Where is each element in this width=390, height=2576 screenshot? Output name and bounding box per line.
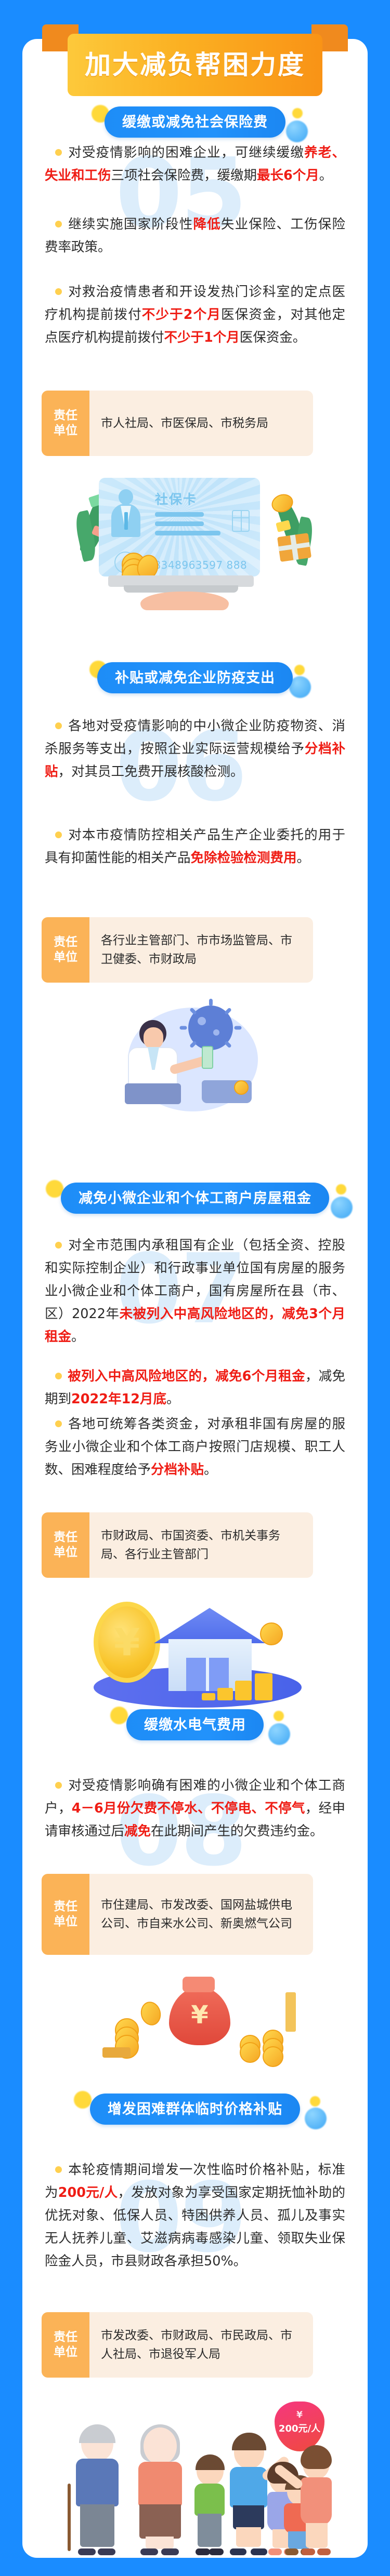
section-pill-09: 增发困难群体临时价格补贴 bbox=[90, 2094, 300, 2125]
section-pill-07: 减免小微企业和个体工商户房屋租金 bbox=[61, 1183, 329, 1214]
coin-stack bbox=[255, 1673, 272, 1700]
doctor-face bbox=[144, 1027, 163, 1049]
decor-blob-yellow bbox=[110, 1707, 128, 1724]
illustration-house-coins: ¥ bbox=[94, 1594, 302, 1714]
poster-title-ribbon: 加大减负帮困力度 bbox=[42, 24, 348, 99]
decor-blob-yellow bbox=[310, 2096, 320, 2107]
bullet-dot-icon bbox=[55, 221, 62, 227]
section-09-bullet-1: 本轮疫情期间增发一次性临时价格补贴，标准为200元/人，发放对象为享受国家定期抚… bbox=[45, 2158, 345, 2273]
house-icon bbox=[160, 1608, 259, 1691]
gift-box-icon bbox=[277, 533, 311, 562]
responsibility-box-08: 责任 单位 市住建局、市发改委、国网盐城供电公司、市自来水公司、新奥燃气公司 bbox=[42, 1874, 313, 1955]
illustration-family-subsidy: ¥ 200元/人 bbox=[57, 2399, 333, 2555]
section-07-bullet-3: 各地可统筹各类资金，对承租非国有房屋的服务业小微企业和个体工商户按照门店规模、职… bbox=[45, 1413, 345, 1481]
section-07-bullet-2: 被列入中高风险地区的，减免6个月租金，减免期到2022年12月底。 bbox=[45, 1365, 345, 1411]
bullet-dot-icon bbox=[55, 149, 62, 156]
ribbon-body: 加大减负帮困力度 bbox=[68, 34, 322, 96]
child-hair bbox=[196, 2454, 225, 2470]
walking-cane-icon bbox=[68, 2484, 71, 2551]
portrait-head bbox=[119, 489, 133, 505]
decor-blob-blue bbox=[268, 1723, 290, 1745]
person-child-pink bbox=[297, 2448, 335, 2555]
card-placeholder-bar bbox=[155, 531, 220, 535]
section-pill-05: 缓缴或减免社会保险费 bbox=[105, 106, 285, 138]
coin-base bbox=[102, 2047, 131, 2058]
section-pill-06: 补贴或减免企业防疫支出 bbox=[97, 662, 293, 693]
decor-blob-blue bbox=[331, 1197, 353, 1218]
section-05-bullet-1: 对受疫情影响的困难企业，可继续缓缴养老、失业和工伤三项社会保险费，缓缴期最长6个… bbox=[45, 141, 345, 187]
responsibility-box-05: 责任 单位 市人社局、市医保局、市税务局 bbox=[42, 391, 313, 456]
responsibility-label-line2: 单位 bbox=[54, 1545, 77, 1560]
child-hair bbox=[301, 2445, 332, 2469]
section-05-bullet-2: 继续实施国家阶段性降低失业保险、工伤保险费率政策。 bbox=[45, 213, 345, 259]
bullet-dot-icon bbox=[55, 2166, 62, 2173]
section-title-text: 减免小微企业和个体工商户房屋租金 bbox=[79, 1191, 311, 1205]
coin-stack bbox=[202, 1693, 215, 1700]
portrait-tie bbox=[124, 512, 128, 530]
section-05-bullet-3: 对救治疫情患者和开设发热门诊科室的定点医疗机构提前拨付不少于2个月医保资金，对其… bbox=[45, 280, 345, 349]
coin-stack bbox=[235, 1681, 252, 1700]
bullet-dot-icon bbox=[55, 288, 62, 295]
responsibility-box-07: 责任 单位 市财政局、市国资委、市机关事务局、各行业主管部门 bbox=[42, 1512, 313, 1578]
bullet-dot-icon bbox=[55, 1373, 62, 1379]
illustration-doctor-virus-test bbox=[78, 1002, 312, 1132]
responsibility-value: 各行业主管部门、市市场监管局、市卫健委、市财政局 bbox=[89, 917, 313, 983]
bullet-dot-icon bbox=[55, 722, 62, 729]
decor-blob-yellow bbox=[74, 2091, 92, 2109]
responsibility-label: 责任 单位 bbox=[42, 917, 89, 983]
virus-icon bbox=[188, 1005, 233, 1050]
coin-icon bbox=[240, 2042, 261, 2063]
section-title-text: 缓缴或减免社会保险费 bbox=[122, 115, 268, 129]
decor-blob-blue bbox=[286, 120, 308, 142]
coin-icon bbox=[234, 1080, 249, 1095]
page-title: 加大减负帮困力度 bbox=[85, 52, 305, 78]
card-portrait-icon bbox=[111, 489, 140, 537]
responsibility-label-line2: 单位 bbox=[54, 1914, 77, 1929]
responsibility-label-line1: 责任 bbox=[54, 2330, 77, 2345]
hand-icon bbox=[140, 592, 229, 610]
yen-symbol: ¥ bbox=[169, 2001, 230, 2030]
card-placeholder-bar bbox=[155, 521, 204, 526]
responsibility-label-line2: 单位 bbox=[54, 2345, 77, 2360]
person-grandmother bbox=[130, 2425, 189, 2555]
section-heading-08: 缓缴水电气费用 bbox=[0, 1705, 390, 1745]
responsibility-label-line2: 单位 bbox=[54, 423, 77, 438]
responsibility-label: 责任 单位 bbox=[42, 1512, 89, 1578]
yen-symbol: ¥ bbox=[275, 2410, 324, 2420]
subsidy-amount-label: 200元/人 bbox=[275, 2421, 324, 2435]
money-pouch-icon: ¥ 200元/人 bbox=[275, 2401, 324, 2451]
house-door bbox=[186, 1658, 229, 1691]
responsibility-value: 市人社局、市医保局、市税务局 bbox=[89, 391, 313, 456]
card-placeholder-bar bbox=[155, 512, 204, 517]
section-heading-09: 增发困难群体临时价格补贴 bbox=[0, 2089, 390, 2129]
large-coin-icon: ¥ bbox=[94, 1602, 160, 1683]
responsibility-box-06: 责任 单位 各行业主管部门、市市场监管局、市卫健委、市财政局 bbox=[42, 917, 313, 983]
lab-bench bbox=[125, 1083, 181, 1104]
decor-blob-yellow bbox=[292, 108, 303, 118]
person-grandfather bbox=[69, 2425, 125, 2555]
money-bag-neck bbox=[183, 1977, 215, 1992]
responsibility-value: 市发改委、市财政局、市民政局、市人社局、市退役军人局 bbox=[89, 2312, 313, 2378]
responsibility-value: 市财政局、市国资委、市机关事务局、各行业主管部门 bbox=[89, 1512, 313, 1578]
responsibility-label-line2: 单位 bbox=[54, 950, 77, 965]
section-heading-07: 减免小微企业和个体工商户房屋租金 bbox=[0, 1178, 390, 1218]
grandfather-hair bbox=[79, 2424, 115, 2443]
responsibility-label: 责任 单位 bbox=[42, 2312, 89, 2378]
responsibility-label-line1: 责任 bbox=[54, 408, 77, 423]
bullet-dot-icon bbox=[55, 1420, 62, 1427]
decor-blob-yellow bbox=[274, 1711, 284, 1721]
coin-stack bbox=[217, 1688, 233, 1700]
decor-blob-yellow bbox=[336, 1184, 346, 1195]
house-roof bbox=[154, 1608, 265, 1643]
section-06-bullet-2: 对本市疫情防控相关产品生产企业委托的用于具有抑菌性能的相关产品免除检验检测费用。 bbox=[45, 824, 345, 869]
illustration-social-security-card: 社保卡 628348963597 888 bbox=[78, 474, 312, 609]
bullet-dot-icon bbox=[55, 1242, 62, 1249]
responsibility-box-09: 责任 单位 市发改委、市财政局、市民政局、市人社局、市退役军人局 bbox=[42, 2312, 313, 2378]
responsibility-label-line1: 责任 bbox=[54, 935, 77, 950]
section-title-text: 缓缴水电气费用 bbox=[144, 1718, 246, 1732]
illustration-money-bag-coins: ¥ bbox=[91, 1968, 299, 2083]
section-title-text: 增发困难群体临时价格补贴 bbox=[108, 2102, 282, 2116]
section-06-bullet-1: 各地对受疫情影响的中小微企业防疫物资、消杀服务等支出，按照企业实际运营规模给予分… bbox=[45, 715, 345, 783]
responsibility-label-line1: 责任 bbox=[54, 1899, 77, 1914]
section-07-bullet-1: 对全市范围内承租国有企业（包括全资、控股和实际控制企业）和行政事业单位国有房屋的… bbox=[45, 1234, 345, 1348]
yen-symbol: ¥ bbox=[98, 1606, 155, 1678]
decor-blob-blue bbox=[305, 2108, 327, 2129]
card-title-text: 社保卡 bbox=[155, 489, 197, 508]
bullet-dot-icon bbox=[55, 1782, 62, 1789]
card-chip-icon bbox=[232, 510, 250, 532]
coin-icon bbox=[260, 1622, 283, 1645]
coin-icon bbox=[138, 2000, 163, 2028]
section-heading-05: 缓缴或减免社会保险费 bbox=[0, 102, 390, 142]
coin-column bbox=[285, 1992, 296, 2032]
section-08-bullet-1: 对受疫情影响确有困难的小微企业和个体工商户，4－6月份欠费不停水、不停电、不停气… bbox=[45, 1774, 345, 1843]
test-tube-icon bbox=[202, 1046, 213, 1069]
child-hair bbox=[232, 2433, 266, 2450]
coin-icon bbox=[263, 2046, 283, 2067]
responsibility-label: 责任 单位 bbox=[42, 391, 89, 456]
person-child-green bbox=[190, 2457, 229, 2555]
responsibility-label-line1: 责任 bbox=[54, 1530, 77, 1545]
responsibility-label: 责任 单位 bbox=[42, 1874, 89, 1955]
section-heading-06: 补贴或减免企业防疫支出 bbox=[0, 658, 390, 698]
section-title-text: 补贴或减免企业防疫支出 bbox=[115, 671, 275, 685]
responsibility-value: 市住建局、市发改委、国网盐城供电公司、市自来水公司、新奥燃气公司 bbox=[89, 1874, 313, 1955]
decor-blob-yellow bbox=[294, 665, 305, 675]
bullet-dot-icon bbox=[55, 831, 62, 838]
section-pill-08: 缓缴水电气费用 bbox=[126, 1709, 264, 1740]
